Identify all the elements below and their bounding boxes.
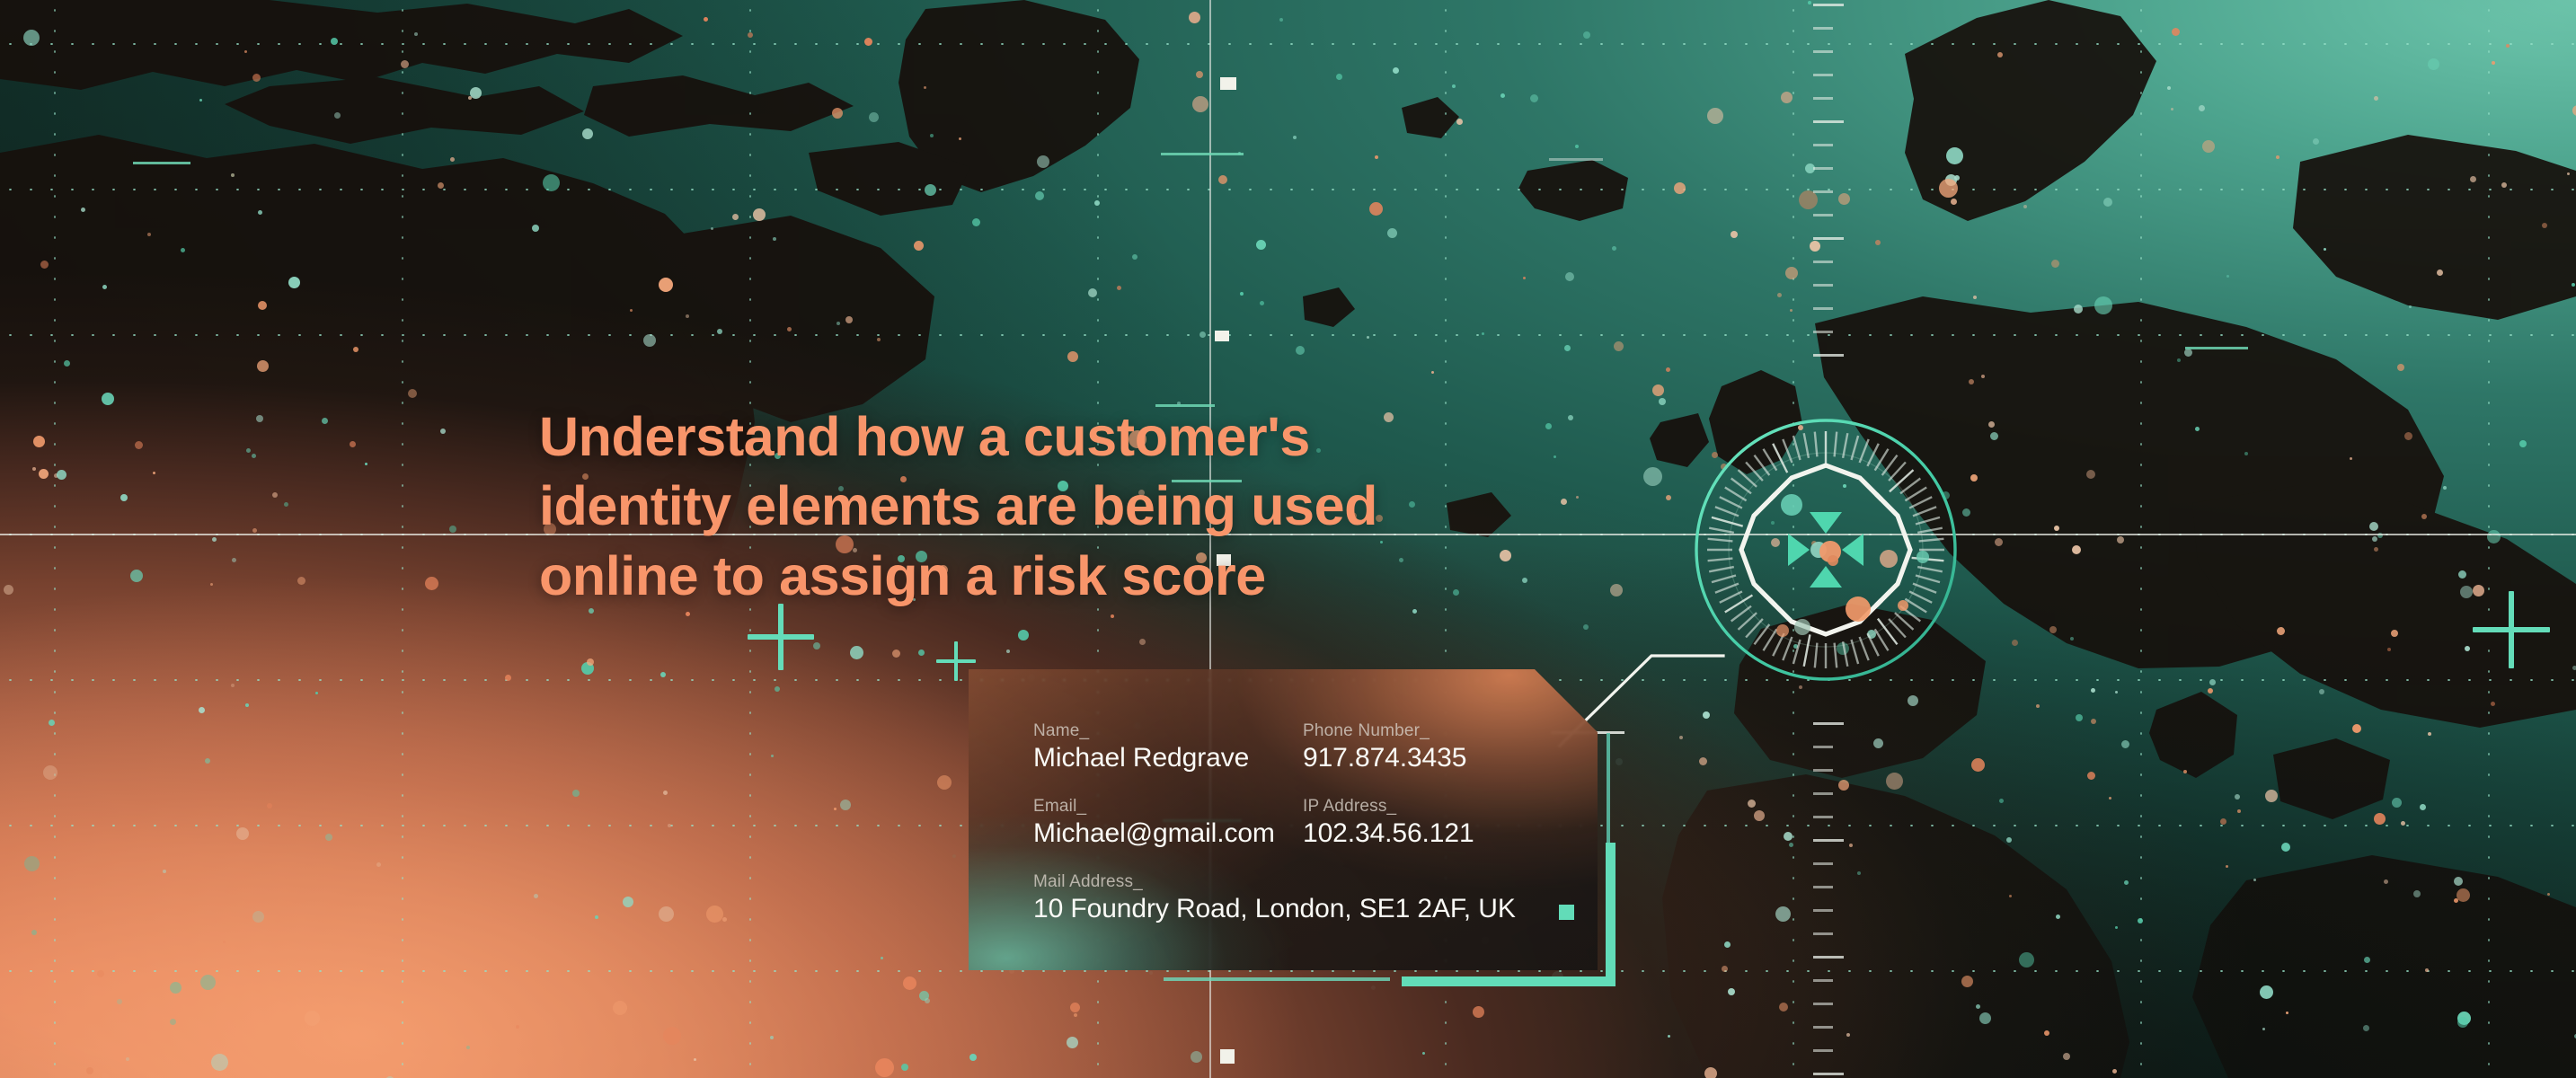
- map-blip: [1990, 432, 1998, 440]
- map-blip: [2202, 140, 2215, 153]
- map-blip: [832, 108, 843, 119]
- map-blip: [1849, 844, 1853, 847]
- map-blip: [1256, 240, 1266, 250]
- map-blip: [722, 917, 727, 922]
- map-blip: [2177, 358, 2181, 362]
- map-blip: [543, 174, 560, 191]
- map-blip: [147, 233, 151, 236]
- map-blip: [834, 808, 837, 810]
- map-blip: [2567, 172, 2570, 175]
- map-blip: [31, 930, 37, 935]
- map-blip: [315, 692, 318, 694]
- map-blip: [532, 225, 539, 232]
- map-blip: [925, 184, 936, 196]
- map-blip: [668, 824, 671, 827]
- map-blip: [2364, 957, 2370, 963]
- map-blip: [212, 537, 217, 542]
- map-blip: [365, 463, 367, 465]
- map-blip: [903, 976, 916, 990]
- map-blip: [24, 856, 40, 871]
- map-blip: [86, 1067, 93, 1074]
- map-blip: [376, 862, 381, 867]
- map-blip: [969, 1054, 977, 1061]
- map-blip: [753, 208, 766, 221]
- map-blip: [1088, 288, 1097, 297]
- map-blip: [1456, 119, 1463, 125]
- map-blip: [210, 583, 213, 586]
- card-accent-line-bottom: [1164, 977, 1390, 981]
- map-blip: [1961, 976, 1973, 987]
- map-blip: [869, 112, 879, 122]
- map-blip: [1666, 367, 1670, 372]
- map-blip: [1371, 985, 1376, 990]
- map-blip: [2404, 432, 2412, 440]
- map-blip: [1724, 941, 1731, 948]
- map-blip: [4, 585, 13, 595]
- map-blip: [2172, 28, 2180, 36]
- map-blip: [2572, 666, 2576, 670]
- map-blip: [252, 911, 264, 923]
- map-blip: [1545, 423, 1552, 429]
- map-blip: [43, 765, 58, 780]
- map-blip: [694, 1058, 696, 1061]
- map-blip: [1070, 1003, 1080, 1012]
- map-blip: [770, 1036, 774, 1039]
- map-blip: [39, 469, 49, 479]
- map-blip: [2492, 61, 2495, 65]
- map-blip: [2369, 522, 2378, 531]
- map-blip: [2262, 1028, 2265, 1030]
- map-blip: [2428, 58, 2439, 70]
- map-blip: [972, 218, 980, 226]
- map-blip: [2086, 470, 2095, 479]
- map-blip: [1575, 145, 1579, 148]
- map-blip: [97, 970, 104, 977]
- map-blip: [2487, 530, 2501, 543]
- map-blip: [732, 214, 739, 220]
- card-corner-bracket: [1384, 843, 1616, 986]
- map-blip: [748, 32, 753, 38]
- map-blip: [2374, 813, 2386, 825]
- map-blip: [2070, 637, 2074, 641]
- map-blip: [2112, 1069, 2117, 1074]
- map-blip: [232, 558, 236, 562]
- map-blip: [1643, 467, 1662, 486]
- map-blip: [901, 1064, 908, 1071]
- map-blip: [1336, 74, 1342, 80]
- dash-marker: [133, 162, 190, 164]
- map-blip: [2167, 86, 2171, 90]
- map-blip: [153, 472, 155, 474]
- map-blip: [1139, 639, 1146, 645]
- map-blip: [1873, 738, 1883, 748]
- field-label: IP Address_: [1303, 797, 1572, 817]
- bracket-vertical: [1606, 843, 1616, 979]
- map-blip: [1722, 966, 1728, 972]
- map-blip: [924, 86, 926, 89]
- bracket-horizontal: [1402, 976, 1616, 986]
- map-blip: [2372, 536, 2377, 542]
- map-blip: [1779, 1003, 1788, 1012]
- field-value: 917.874.3435: [1303, 743, 1572, 773]
- map-blip: [2226, 865, 2228, 868]
- map-blip: [663, 1027, 681, 1045]
- map-blip: [1976, 1004, 1980, 1009]
- map-blip: [2253, 879, 2256, 881]
- map-blip: [231, 684, 235, 687]
- map-blip: [1790, 309, 1793, 312]
- map-blip: [1846, 1033, 1850, 1037]
- map-blip: [2391, 630, 2398, 637]
- map-blip: [200, 975, 216, 990]
- map-blip: [1192, 96, 1208, 112]
- headline-line-2: identity elements are being used: [539, 472, 1483, 541]
- map-blip: [2313, 138, 2319, 145]
- map-blip: [102, 285, 107, 289]
- map-blip: [595, 915, 598, 919]
- map-blip: [2051, 260, 2059, 268]
- map-blip: [1149, 971, 1153, 975]
- map-blip: [2244, 452, 2248, 455]
- map-blip: [81, 208, 85, 212]
- map-blip: [1523, 277, 1526, 279]
- map-blip: [2012, 640, 2018, 646]
- map-blip: [170, 982, 181, 994]
- map-blip: [32, 467, 36, 471]
- field-name: Name_ Michael Redgrave: [1033, 721, 1303, 773]
- map-blip: [1431, 371, 1434, 374]
- map-blip: [1452, 84, 1456, 88]
- field-phone-number: Phone Number_ 917.874.3435: [1303, 721, 1572, 773]
- map-blip: [1789, 843, 1793, 847]
- map-blip: [837, 322, 840, 325]
- map-blip: [2208, 688, 2213, 694]
- map-blip: [414, 32, 418, 36]
- map-blip: [2409, 305, 2412, 308]
- map-blip: [23, 30, 40, 46]
- map-blip: [840, 800, 851, 810]
- map-blip: [1777, 293, 1782, 297]
- map-blip: [2235, 794, 2240, 800]
- map-blip: [659, 278, 673, 292]
- map-blip: [1970, 474, 1978, 482]
- map-blip: [1260, 301, 1264, 305]
- map-blip: [2501, 182, 2507, 188]
- page-headline: Understand how a customer's identity ele…: [539, 402, 1483, 611]
- map-blip: [1995, 538, 2003, 546]
- map-blip: [2281, 843, 2290, 852]
- map-blip: [2352, 724, 2361, 733]
- map-blip: [892, 649, 900, 658]
- scan-marker: [1220, 77, 1236, 90]
- map-blip: [937, 775, 952, 790]
- map-blip: [408, 389, 417, 398]
- map-blip: [2044, 1030, 2049, 1036]
- map-blip: [1997, 52, 2003, 57]
- map-blip: [205, 758, 210, 764]
- map-blip: [2183, 770, 2187, 773]
- map-blip: [2091, 688, 2095, 693]
- map-blip: [1962, 508, 1970, 517]
- map-blip: [199, 99, 202, 102]
- target-lock-radar[interactable]: [1691, 415, 1961, 685]
- map-blip: [2470, 176, 2476, 182]
- map-blip: [2572, 283, 2575, 287]
- map-blip: [2443, 486, 2447, 490]
- map-blip: [1707, 108, 1723, 124]
- map-blip: [711, 227, 713, 230]
- map-blip: [1565, 272, 1574, 281]
- map-blip: [2350, 457, 2352, 460]
- map-blip: [1074, 1013, 1077, 1017]
- map-blip: [1117, 286, 1121, 290]
- map-blip: [2456, 888, 2470, 902]
- map-blip: [845, 316, 853, 323]
- map-blip: [1781, 92, 1793, 103]
- map-blip: [1189, 12, 1200, 23]
- map-blip: [40, 261, 49, 269]
- map-blip: [2460, 586, 2473, 598]
- map-blip: [1196, 71, 1203, 78]
- map-blip: [1659, 398, 1666, 405]
- map-blip: [2420, 804, 2426, 810]
- map-blip: [252, 528, 257, 533]
- map-blip: [256, 415, 263, 422]
- map-blip: [2542, 223, 2547, 228]
- map-blip: [2458, 570, 2466, 579]
- map-blip: [449, 526, 456, 533]
- map-blip: [2425, 968, 2429, 972]
- map-blip: [706, 906, 723, 923]
- map-blip: [1784, 832, 1793, 841]
- map-blip: [2109, 797, 2111, 800]
- map-blip: [353, 347, 359, 352]
- map-blip: [643, 334, 656, 347]
- map-blip: [1367, 336, 1369, 339]
- map-blip: [130, 570, 143, 582]
- map-blip: [1564, 345, 1571, 351]
- map-blip: [2019, 952, 2034, 968]
- card-row-2: Email_ Michael@gmail.com IP Address_ 102…: [1033, 797, 1598, 849]
- map-blip: [231, 173, 235, 177]
- map-blip: [2138, 918, 2143, 923]
- map-blip: [258, 210, 262, 215]
- map-blip: [297, 577, 305, 585]
- field-value: Michael Redgrave: [1033, 743, 1303, 773]
- map-blip: [1731, 231, 1738, 238]
- map-blip: [1199, 331, 1206, 338]
- map-blip: [1583, 31, 1590, 39]
- map-blip: [2397, 364, 2404, 371]
- map-blip: [2572, 105, 2576, 116]
- map-blip: [440, 429, 446, 434]
- map-blip: [2491, 702, 2495, 706]
- map-blip: [2209, 679, 2216, 685]
- map-blip: [875, 1058, 894, 1077]
- map-blip: [1704, 1067, 1717, 1078]
- map-blip: [2117, 536, 2124, 543]
- map-blip: [918, 649, 925, 656]
- map-blip: [1240, 292, 1244, 296]
- map-blip: [1279, 18, 1283, 22]
- map-blip: [2094, 296, 2112, 314]
- map-blip: [102, 393, 114, 405]
- dash-marker: [1161, 153, 1244, 155]
- map-blip: [425, 577, 438, 590]
- map-blip: [1018, 630, 1029, 641]
- map-blip: [2260, 985, 2273, 999]
- map-blip: [245, 703, 249, 707]
- map-blip: [1981, 375, 1985, 378]
- map-blip: [1132, 254, 1138, 260]
- map-blip: [1674, 182, 1686, 194]
- map-blip: [2457, 1017, 2468, 1028]
- field-label: Email_: [1033, 797, 1303, 817]
- card-row-1: Name_ Michael Redgrave Phone Number_ 917…: [1033, 721, 1598, 773]
- map-blip: [2115, 691, 2118, 694]
- dash-marker: [1549, 158, 1603, 161]
- scale-ruler-bottom: [1813, 719, 1844, 1078]
- map-blip: [1951, 199, 1957, 205]
- map-blip: [1191, 1051, 1202, 1063]
- scale-ruler-top: [1813, 0, 1844, 377]
- map-blip: [2286, 1012, 2288, 1014]
- map-blip: [1971, 758, 1985, 772]
- map-blip: [2437, 269, 2443, 276]
- map-blip: [2006, 837, 2012, 843]
- map-blip: [331, 38, 338, 45]
- map-blip: [1875, 240, 1881, 245]
- map-blip: [257, 360, 269, 372]
- map-blip: [1500, 550, 1511, 561]
- map-blip: [1500, 93, 1505, 98]
- map-blip: [2226, 275, 2229, 278]
- crosshair-marker-icon: [2473, 591, 2550, 668]
- map-blip: [630, 309, 633, 312]
- map-blip: [1785, 267, 1798, 279]
- map-blip: [659, 906, 674, 922]
- map-blip: [350, 441, 356, 447]
- map-blip: [126, 1057, 129, 1061]
- map-blip: [252, 454, 256, 458]
- map-blip: [1668, 1035, 1670, 1038]
- map-blip: [2454, 877, 2463, 886]
- map-blip: [2184, 349, 2192, 357]
- map-blip: [2074, 305, 2083, 314]
- scan-marker: [1220, 1049, 1235, 1064]
- map-blip: [952, 854, 956, 858]
- map-blip: [1522, 578, 1527, 583]
- map-blip: [1666, 495, 1671, 500]
- map-blip: [717, 329, 722, 334]
- map-blip: [2076, 714, 2083, 721]
- map-blip: [438, 182, 444, 189]
- map-blip: [325, 834, 332, 841]
- map-blip: [1561, 499, 1567, 505]
- map-blip: [660, 672, 666, 677]
- map-blip: [466, 1046, 470, 1049]
- map-blip: [246, 448, 251, 453]
- map-blip: [1748, 800, 1756, 808]
- map-blip: [1614, 341, 1624, 351]
- map-blip: [1999, 799, 2004, 803]
- map-blip: [2195, 427, 2200, 431]
- map-blip: [2421, 514, 2427, 519]
- map-blip: [1939, 179, 1958, 198]
- field-value: Michael@gmail.com: [1033, 818, 1303, 849]
- map-blip: [236, 827, 249, 840]
- hero-canvas: Understand how a customer's identity ele…: [0, 0, 2576, 1078]
- map-blip: [1035, 191, 1044, 200]
- map-blip: [686, 612, 690, 616]
- map-blip: [450, 157, 455, 162]
- map-blip: [305, 1011, 320, 1026]
- map-blip: [2103, 198, 2112, 207]
- map-blip: [2115, 926, 2118, 929]
- map-blip: [1979, 1012, 1991, 1024]
- map-blip: [334, 112, 341, 119]
- map-blip: [850, 646, 863, 659]
- map-blip: [1857, 871, 1861, 875]
- map-blip: [1393, 67, 1399, 74]
- map-blip: [1369, 202, 1383, 216]
- bracket-square-marker: [1559, 905, 1574, 920]
- map-blip: [813, 642, 820, 649]
- map-blip: [771, 755, 774, 757]
- map-blip: [2124, 880, 2129, 885]
- map-blip: [704, 17, 708, 22]
- map-blip: [1576, 496, 1579, 499]
- map-blip: [686, 314, 689, 318]
- map-blip: [401, 60, 409, 68]
- map-blip: [534, 894, 538, 898]
- map-blip: [2049, 626, 2057, 633]
- map-blip: [516, 1025, 519, 1029]
- map-blip: [2413, 890, 2421, 897]
- map-blip: [1612, 246, 1616, 251]
- map-blip: [1908, 695, 1918, 706]
- map-blip: [288, 277, 300, 288]
- map-blip: [2387, 648, 2391, 651]
- map-blip: [1946, 147, 1963, 164]
- map-blip: [1387, 228, 1397, 238]
- map-blip: [57, 470, 66, 480]
- map-blip: [1111, 614, 1114, 618]
- field-label: Name_: [1033, 721, 1303, 741]
- map-blip: [163, 870, 166, 873]
- map-blip: [223, 941, 226, 943]
- map-blip: [787, 327, 792, 331]
- map-blip: [1973, 296, 1977, 299]
- map-blip: [199, 707, 205, 713]
- map-blip: [2009, 895, 2012, 897]
- map-blip: [1754, 810, 1765, 821]
- map-blip: [1218, 175, 1227, 184]
- map-blip: [1037, 155, 1049, 168]
- map-blip: [267, 803, 272, 808]
- map-blip: [211, 1054, 228, 1071]
- map-blip: [2023, 205, 2027, 208]
- map-blip: [2384, 879, 2388, 884]
- map-blip: [1554, 455, 1556, 458]
- map-blip: [1775, 906, 1791, 922]
- map-blip: [258, 301, 267, 310]
- map-blip: [1954, 175, 1960, 181]
- map-blip: [572, 790, 580, 797]
- map-blip: [244, 50, 247, 53]
- map-blip: [623, 897, 633, 907]
- map-blip: [2087, 772, 2095, 780]
